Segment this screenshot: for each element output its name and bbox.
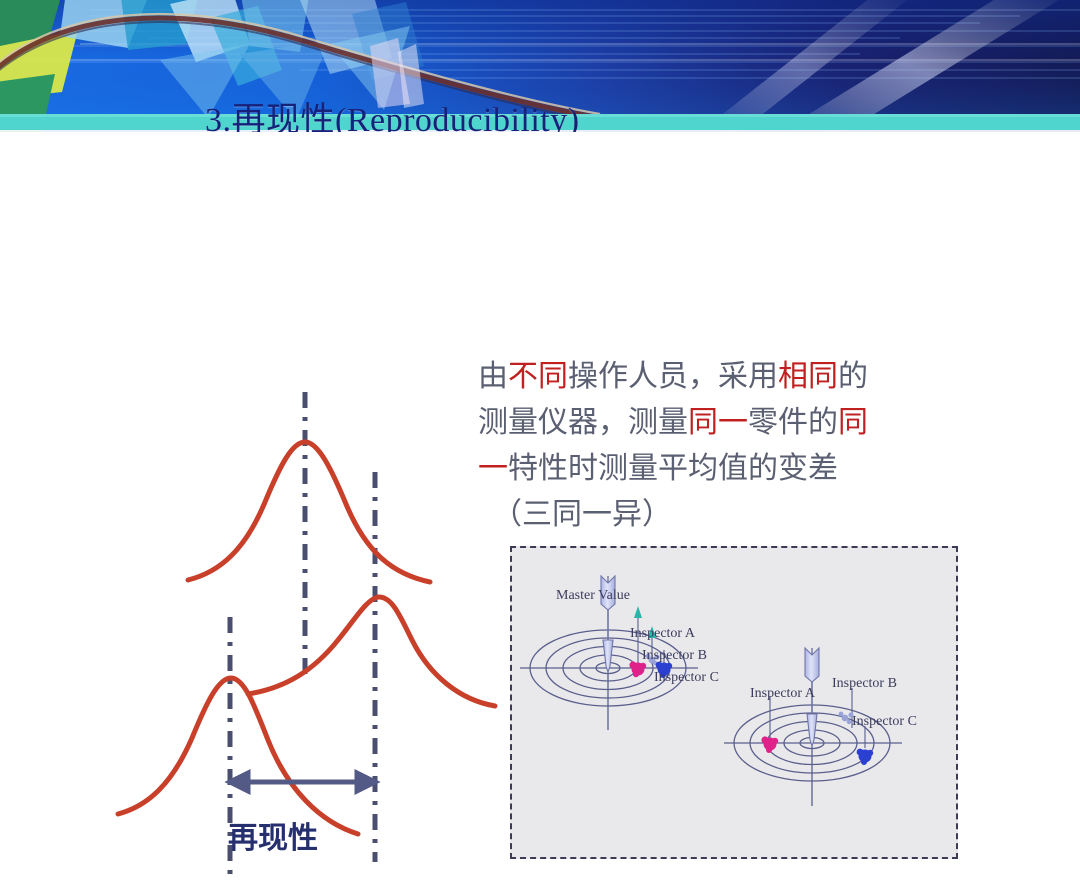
slide-title: 3.再现性(Reproducibility) [205,92,580,132]
description-line-4: （三同一异） [478,492,978,538]
reproducibility-curve-chart: 再现性 [100,382,520,882]
description-line-3: 一特性时测量平均值的变差 [478,446,978,492]
right-label-inspector-a: Inspector A [750,686,815,702]
right-label-inspector-b: Inspector B [832,676,897,692]
reproducibility-span-arrow [230,773,375,791]
highlight-run: 同一 [688,405,748,440]
slide-body: 由不同操作人员，采用相同的测量仪器，测量同一零件的同一特性时测量平均值的变差（三… [0,132,1080,810]
curve-top [188,442,430,582]
text-run: 的 [838,359,868,394]
description-line-2: 测量仪器，测量同一零件的同 [478,400,978,446]
text-run: 零件的 [748,405,838,440]
highlight-run: 同 [838,405,868,440]
dartboard-figure-frame: Master Value Inspector A Inspector B Ins… [510,546,958,859]
highlight-run: 相同 [778,359,838,394]
right-label-inspector-c: Inspector C [852,714,917,730]
left-label-inspector-a: Inspector A [630,626,695,642]
curve-caption: 再现性 [228,821,318,856]
description-paragraph: 由不同操作人员，采用相同的测量仪器，测量同一零件的同一特性时测量平均值的变差（三… [478,354,978,538]
right-marker-inspector-a [761,736,778,753]
text-run: 操作人员，采用 [568,359,778,394]
description-line-1: 由不同操作人员，采用相同的 [478,354,978,400]
master-value-label: Master Value [556,588,630,604]
left-label-inspector-b: Inspector B [642,648,707,664]
header-banner: 3.再现性(Reproducibility) [0,0,1080,132]
curve-bottom [118,678,358,834]
curve-middle [248,597,495,706]
left-label-inspector-c: Inspector C [654,670,719,686]
text-run: 特性时测量平均值的变差 [508,451,838,486]
